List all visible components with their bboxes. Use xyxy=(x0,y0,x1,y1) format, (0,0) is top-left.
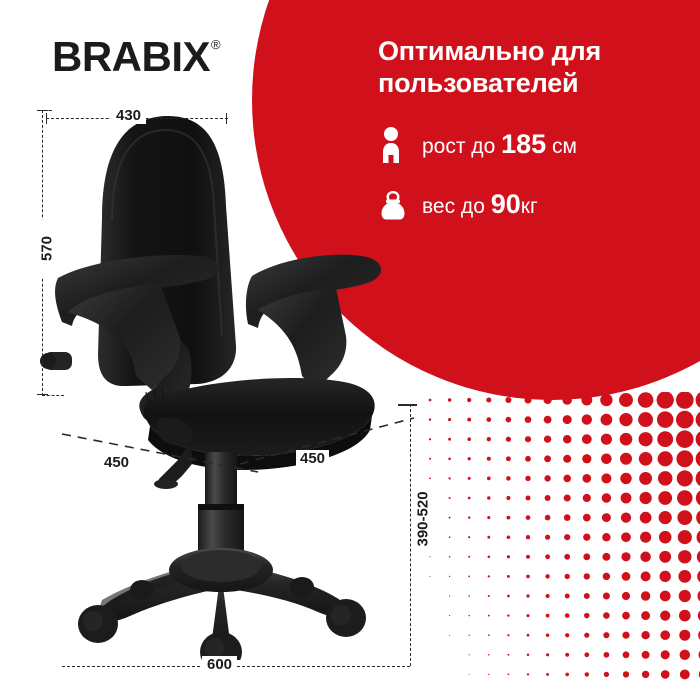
dimension-label-450-left: 450 xyxy=(100,454,133,471)
spec-row-height: рост до 185 см xyxy=(378,126,668,164)
spec-row-weight: вес до 90кг xyxy=(378,186,668,224)
spec-height-prefix: рост до xyxy=(422,135,501,158)
spec-height-text: рост до 185 см xyxy=(422,129,577,160)
leader-line-bottom xyxy=(42,395,64,396)
dimension-label-430: 430 xyxy=(111,107,146,124)
dimension-label-570: 570 xyxy=(39,220,56,278)
brabix-logo-text: BRABIX xyxy=(52,36,210,78)
dimension-label-390-520: 390-520 xyxy=(415,494,432,552)
spec-height-suffix: см xyxy=(546,135,577,158)
dimension-tick-bottom xyxy=(398,405,417,406)
kettlebell-icon xyxy=(378,186,412,224)
halftone-dot-pattern xyxy=(424,392,700,680)
promo-title-line1: Оптимально для xyxy=(378,36,601,66)
brabix-logo: BRABIX ® xyxy=(52,36,221,78)
spec-height-value: 185 xyxy=(501,129,546,159)
infographic-canvas: BRABIX ® Оптимально для пользователей ро… xyxy=(0,0,700,700)
registered-mark: ® xyxy=(211,38,221,51)
dimension-line-390-520 xyxy=(410,404,411,666)
leader-line-top xyxy=(42,110,52,111)
dimension-450-right: 450 xyxy=(238,412,416,475)
chair-armrest-right xyxy=(246,255,381,390)
promo-title: Оптимально для пользователей xyxy=(378,36,668,100)
spec-weight-prefix: вес до xyxy=(422,195,491,218)
spec-weight-value: 90 xyxy=(491,189,521,219)
office-chair-image xyxy=(40,100,400,660)
dimension-label-600: 600 xyxy=(202,656,237,673)
spec-weight-suffix: кг xyxy=(521,195,538,218)
dimension-390-520: 390-520 xyxy=(398,404,417,666)
spec-weight-text: вес до 90кг xyxy=(422,189,538,220)
dimension-tick-left xyxy=(46,113,47,124)
promo-panel: Оптимально для пользователей рост до 185… xyxy=(378,36,668,246)
person-icon xyxy=(378,126,412,164)
dimension-450-left: 450 xyxy=(60,418,260,483)
promo-title-line2: пользователей xyxy=(378,68,578,98)
dimension-tick-right xyxy=(226,113,227,124)
dimension-label-450-right: 450 xyxy=(296,450,329,467)
